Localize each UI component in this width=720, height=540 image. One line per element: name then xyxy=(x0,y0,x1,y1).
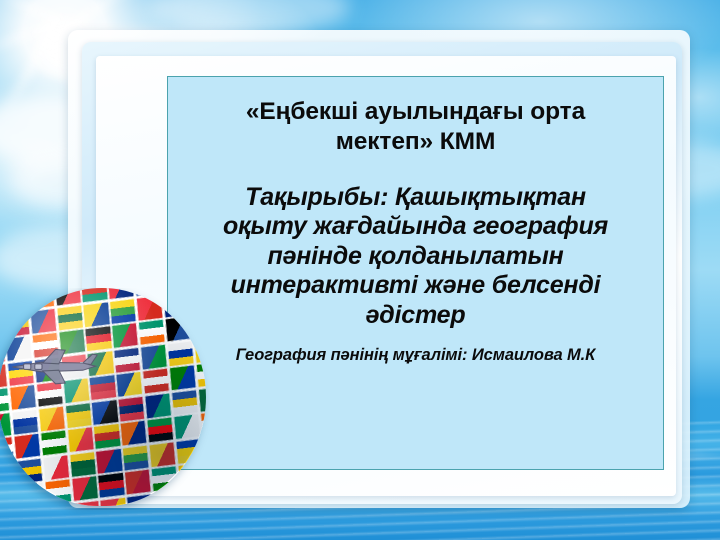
world-flags-globe-icon xyxy=(0,288,206,506)
organization-title: «Еңбекші ауылындағы орта мектеп» КММ xyxy=(184,97,647,157)
topic-line-1: Тақырыбы: Қашықтықтан xyxy=(184,183,647,213)
organization-line-1: «Еңбекші ауылындағы орта xyxy=(184,97,647,127)
topic-line-5: әдістер xyxy=(184,301,647,331)
topic-line-2: оқыту жағдайында география xyxy=(184,212,647,242)
globe-container xyxy=(0,288,210,510)
flag-grid xyxy=(0,288,206,506)
sun-ray xyxy=(0,0,64,28)
topic-line-4: интерактивті және белсенді xyxy=(184,271,647,301)
title-text-box: «Еңбекші ауылындағы орта мектеп» КММ Тақ… xyxy=(167,76,664,470)
organization-line-2: мектеп» КММ xyxy=(184,127,647,157)
spacer xyxy=(184,157,647,183)
author-line: География пәнінің мұғалімі: Исмаилова М.… xyxy=(184,346,647,365)
presentation-slide: «Еңбекші ауылындағы орта мектеп» КММ Тақ… xyxy=(0,0,720,540)
topic-line-3: пәнінде қолданылатын xyxy=(184,242,647,272)
topic-heading: Тақырыбы: Қашықтықтан оқыту жағдайында г… xyxy=(184,183,647,331)
